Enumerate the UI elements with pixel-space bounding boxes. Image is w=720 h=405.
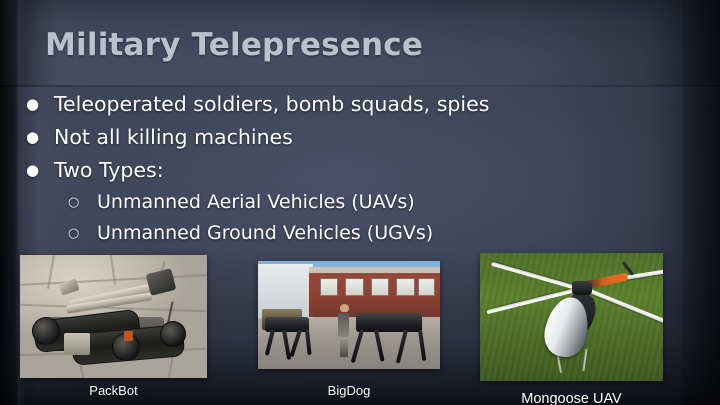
bullet-item: ● Two Types: xyxy=(26,154,686,187)
bigdog-operator-head xyxy=(340,304,349,312)
bullet-marker-icon: ● xyxy=(26,154,54,187)
bullet-item: ● Teleoperated soldiers, bomb squads, sp… xyxy=(26,88,686,121)
caption-packbot: PackBot xyxy=(20,383,207,398)
sub-bullet-item: ○ Unmanned Aerial Vehicles (UAVs) xyxy=(26,187,686,218)
bullet-text: Teleoperated soldiers, bomb squads, spie… xyxy=(54,88,686,121)
bigdog-operator-legs xyxy=(340,337,348,357)
photo-packbot xyxy=(20,255,207,378)
photo-bigdog xyxy=(258,261,440,369)
packbot-battery-box xyxy=(64,333,90,355)
title-banner-divider xyxy=(0,85,720,87)
sub-bullet-marker-icon: ○ xyxy=(68,218,97,249)
caption-bigdog: BigDog xyxy=(258,383,440,398)
bullet-marker-icon: ● xyxy=(26,121,54,154)
bigdog-right-robot-body xyxy=(356,313,422,332)
mongoose-rotor-hub xyxy=(572,281,592,295)
bullet-item: ● Not all killing machines xyxy=(26,121,686,154)
sub-bullet-text: Unmanned Ground Vehicles (UGVs) xyxy=(97,218,686,249)
bigdog-roof-line xyxy=(309,267,440,272)
bullet-text: Two Types: xyxy=(54,154,686,187)
caption-mongoose: Mongoose UAV xyxy=(480,391,663,405)
bigdog-operator-torso xyxy=(338,313,349,337)
photo-mongoose-uav xyxy=(480,253,663,381)
sub-bullet-text: Unmanned Aerial Vehicles (UAVs) xyxy=(97,187,686,218)
bullet-list: ● Teleoperated soldiers, bomb squads, sp… xyxy=(26,88,686,249)
sub-bullet-marker-icon: ○ xyxy=(68,187,97,218)
packbot-indicator xyxy=(124,331,133,341)
bullet-text: Not all killing machines xyxy=(54,121,686,154)
bullet-marker-icon: ● xyxy=(26,88,54,121)
presentation-slide: Military Telepresence ● Teleoperated sol… xyxy=(0,0,720,405)
sub-bullet-item: ○ Unmanned Ground Vehicles (UGVs) xyxy=(26,218,686,249)
slide-title: Military Telepresence xyxy=(45,27,423,63)
